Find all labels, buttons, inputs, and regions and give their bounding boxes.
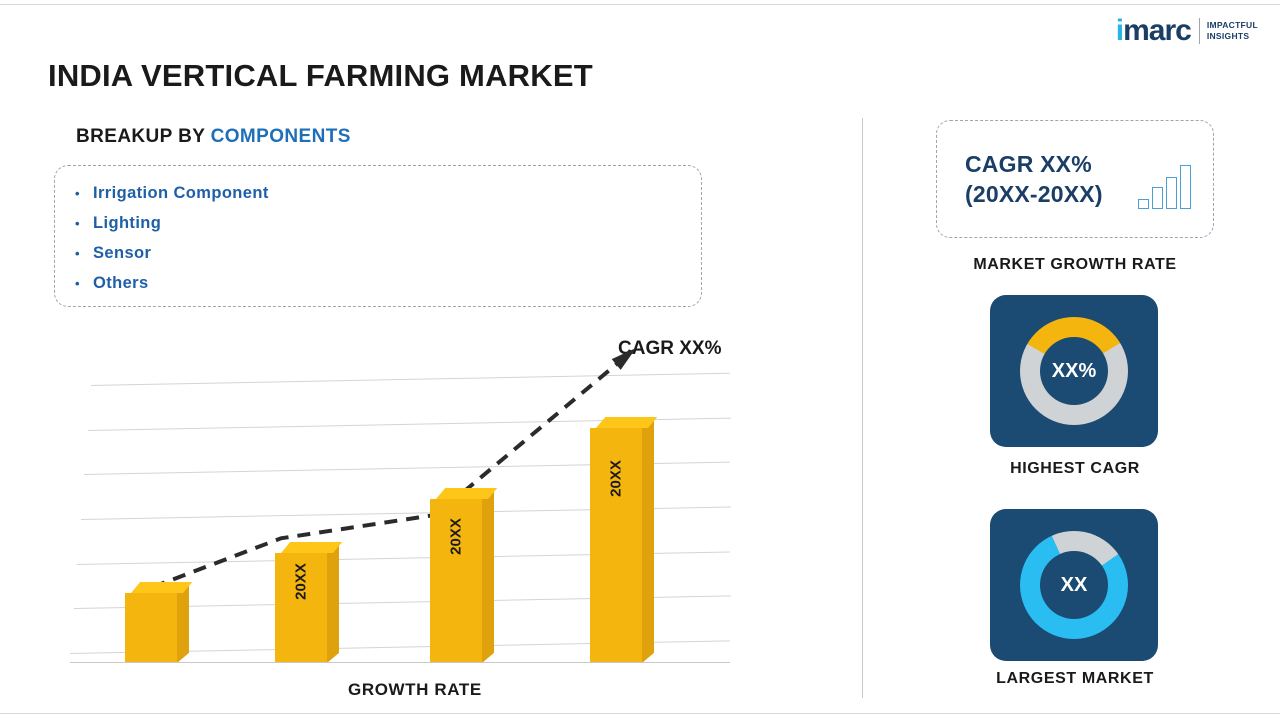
largest-market-caption: LARGEST MARKET	[936, 670, 1214, 688]
chart-bar	[125, 593, 177, 663]
section-divider	[862, 118, 863, 698]
chart-bar-top	[281, 542, 342, 553]
chart-bar: 20XX	[430, 499, 482, 663]
largest-market-card: XX	[990, 509, 1158, 661]
page-title: INDIA VERTICAL FARMING MARKET	[48, 58, 593, 94]
logo-letter-i: i	[1116, 14, 1123, 47]
list-item: • Lighting	[75, 208, 701, 238]
list-item: • Others	[75, 268, 701, 298]
chart-bar-side	[327, 543, 339, 663]
chart-baseline	[70, 662, 730, 663]
chart-bar-top	[131, 582, 192, 593]
logo-tagline-2: INSIGHTS	[1207, 31, 1258, 42]
components-list: • Irrigation Component • Lighting • Sens…	[55, 166, 701, 298]
bar-chart-icon	[1138, 165, 1191, 209]
bullet-icon: •	[75, 217, 93, 230]
largest-market-donut: XX	[1020, 531, 1128, 639]
chart-bar: 20XX	[275, 553, 327, 663]
bottom-divider	[0, 713, 1280, 714]
component-label: Sensor	[93, 244, 151, 263]
chart-bar-label: 20XX	[448, 518, 465, 555]
logo-wordmark: imarc	[1116, 16, 1191, 46]
logo-tagline-1: IMPACTFUL	[1207, 20, 1258, 31]
highest-cagr-card: XX%	[990, 295, 1158, 447]
highest-cagr-donut: XX%	[1020, 317, 1128, 425]
chart-bar-side	[177, 583, 189, 663]
growth-chart: CAGR XX% 20XX20XX20XX GROWTH RATE	[48, 330, 748, 705]
logo-letter-marc: marc	[1123, 14, 1191, 47]
highest-cagr-caption: HIGHEST CAGR	[936, 460, 1214, 478]
chart-xlabel: GROWTH RATE	[348, 680, 482, 700]
cagr-period: (20XX-20XX)	[965, 179, 1103, 209]
chart-bar: 20XX	[590, 428, 642, 663]
component-label: Others	[93, 274, 149, 293]
chart-bar-label: 20XX	[608, 461, 625, 498]
slide-canvas: imarc IMPACTFUL INSIGHTS INDIA VERTICAL …	[0, 0, 1280, 720]
market-growth-rate-caption: MARKET GROWTH RATE	[936, 256, 1214, 274]
component-label: Lighting	[93, 214, 161, 233]
bullet-icon: •	[75, 187, 93, 200]
highest-cagr-value: XX%	[1020, 317, 1128, 425]
largest-market-value: XX	[1020, 531, 1128, 639]
bullet-icon: •	[75, 277, 93, 290]
top-divider	[0, 4, 1280, 5]
components-box: • Irrigation Component • Lighting • Sens…	[54, 165, 702, 307]
cagr-callout: CAGR XX% (20XX-20XX)	[936, 120, 1214, 238]
cagr-value: CAGR XX%	[965, 149, 1103, 179]
component-label: Irrigation Component	[93, 184, 269, 203]
chart-bar-front	[125, 593, 177, 663]
breakup-heading: BREAKUP BY COMPONENTS	[76, 126, 351, 148]
chart-cagr-annotation: CAGR XX%	[618, 338, 721, 360]
bullet-icon: •	[75, 247, 93, 260]
chart-bar-side	[482, 489, 494, 663]
chart-bar-side	[642, 418, 654, 663]
list-item: • Irrigation Component	[75, 178, 701, 208]
imarc-logo: imarc IMPACTFUL INSIGHTS	[1116, 14, 1258, 48]
cagr-callout-text: CAGR XX% (20XX-20XX)	[965, 149, 1103, 209]
chart-bar-top	[596, 417, 657, 428]
logo-divider	[1199, 18, 1200, 44]
breakup-heading-accent: COMPONENTS	[211, 126, 351, 147]
chart-bar-top	[436, 488, 497, 499]
list-item: • Sensor	[75, 238, 701, 268]
chart-plot-area: 20XX20XX20XX	[70, 375, 730, 663]
chart-bar-label: 20XX	[293, 563, 310, 600]
breakup-heading-prefix: BREAKUP BY	[76, 126, 211, 147]
